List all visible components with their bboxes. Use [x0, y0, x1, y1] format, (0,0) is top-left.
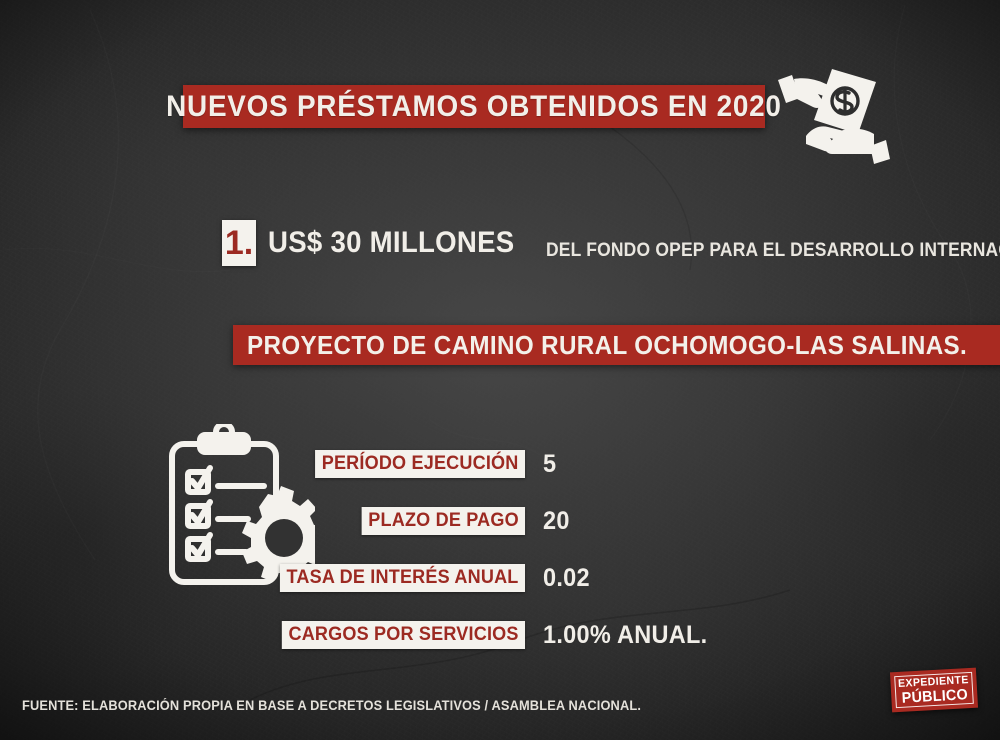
logo-border: EXPEDIENTE PÚBLICO	[894, 672, 974, 708]
table-row: TASA DE INTERÉS ANUAL 0.02	[330, 554, 750, 602]
logo-line-2: PÚBLICO	[901, 687, 968, 706]
infographic-poster: NUEVOS PRÉSTAMOS OBTENIDOS EN 2020 1. US…	[0, 0, 1000, 740]
project-name: PROYECTO DE CAMINO RURAL OCHOMOGO-LAS SA…	[247, 330, 967, 361]
source-note: FUENTE: ELABORACIÓN PROPIA EN BASE A DEC…	[22, 698, 641, 713]
hand-giving-money-icon	[770, 58, 890, 166]
term-value: 0.02	[543, 564, 590, 593]
loan-terms-table: PERÍODO EJECUCIÓN 5 PLAZO DE PAGO 20 TAS…	[330, 440, 750, 668]
project-name-banner: PROYECTO DE CAMINO RURAL OCHOMOGO-LAS SA…	[233, 325, 1000, 365]
term-value: 20	[543, 507, 570, 536]
page-title-banner: NUEVOS PRÉSTAMOS OBTENIDOS EN 2020	[183, 85, 765, 128]
table-row: CARGOS POR SERVICIOS 1.00% ANUAL.	[330, 611, 750, 659]
loan-source: DEL FONDO OPEP PARA EL DESARROLLO INTERN…	[546, 240, 1000, 266]
term-value: 5	[543, 450, 556, 479]
loan-item-row: 1. US$ 30 MILLONES DEL FONDO OPEP PARA E…	[222, 220, 1000, 266]
term-label: CARGOS POR SERVICIOS	[282, 621, 525, 649]
expediente-publico-logo: EXPEDIENTE PÚBLICO	[890, 668, 978, 713]
loan-amount: US$ 30 MILLONES	[268, 226, 514, 260]
loan-item-number: 1.	[222, 220, 256, 266]
term-label: TASA DE INTERÉS ANUAL	[280, 564, 525, 592]
table-row: PERÍODO EJECUCIÓN 5	[330, 440, 750, 488]
term-value: 1.00% ANUAL.	[543, 621, 707, 650]
page-title: NUEVOS PRÉSTAMOS OBTENIDOS EN 2020	[166, 90, 781, 124]
term-label: PLAZO DE PAGO	[361, 507, 525, 535]
table-row: PLAZO DE PAGO 20	[330, 497, 750, 545]
term-label: PERÍODO EJECUCIÓN	[315, 450, 525, 478]
